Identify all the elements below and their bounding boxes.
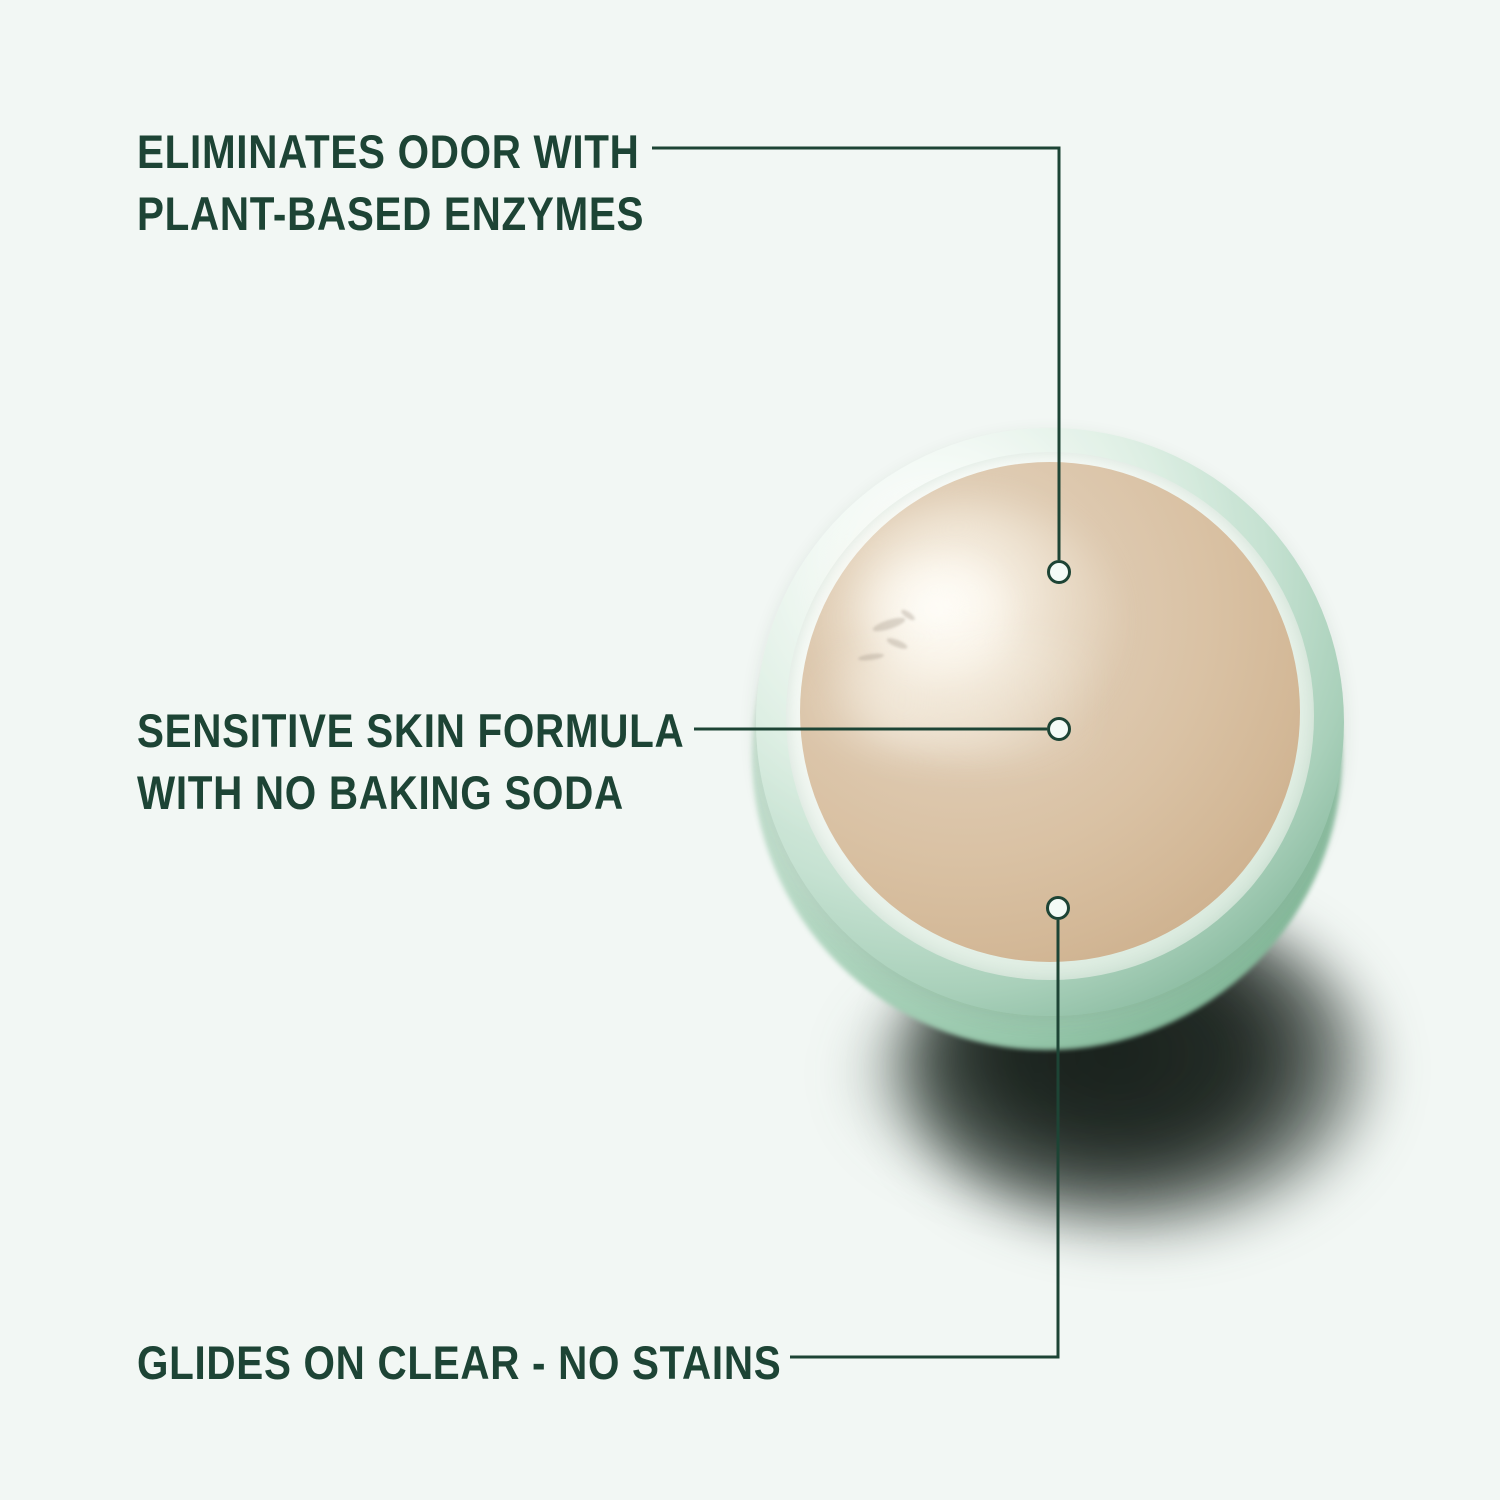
callout-dot-odor[interactable] bbox=[1047, 560, 1071, 584]
callout-dot-sensitive-skin[interactable] bbox=[1047, 717, 1071, 741]
leader-line-no-stains bbox=[790, 920, 1058, 1357]
callout-label-sensitive-skin: SENSITIVE SKIN FORMULA WITH NO BAKING SO… bbox=[137, 700, 684, 824]
callout-label-odor: ELIMINATES ODOR WITH PLANT-BASED ENZYMES bbox=[137, 121, 644, 245]
callout-dot-no-stains[interactable] bbox=[1046, 896, 1070, 920]
product-feature-callout-image: ELIMINATES ODOR WITH PLANT-BASED ENZYMES… bbox=[0, 0, 1500, 1500]
callout-label-no-stains: GLIDES ON CLEAR - NO STAINS bbox=[137, 1332, 781, 1394]
leader-line-odor bbox=[652, 148, 1059, 560]
